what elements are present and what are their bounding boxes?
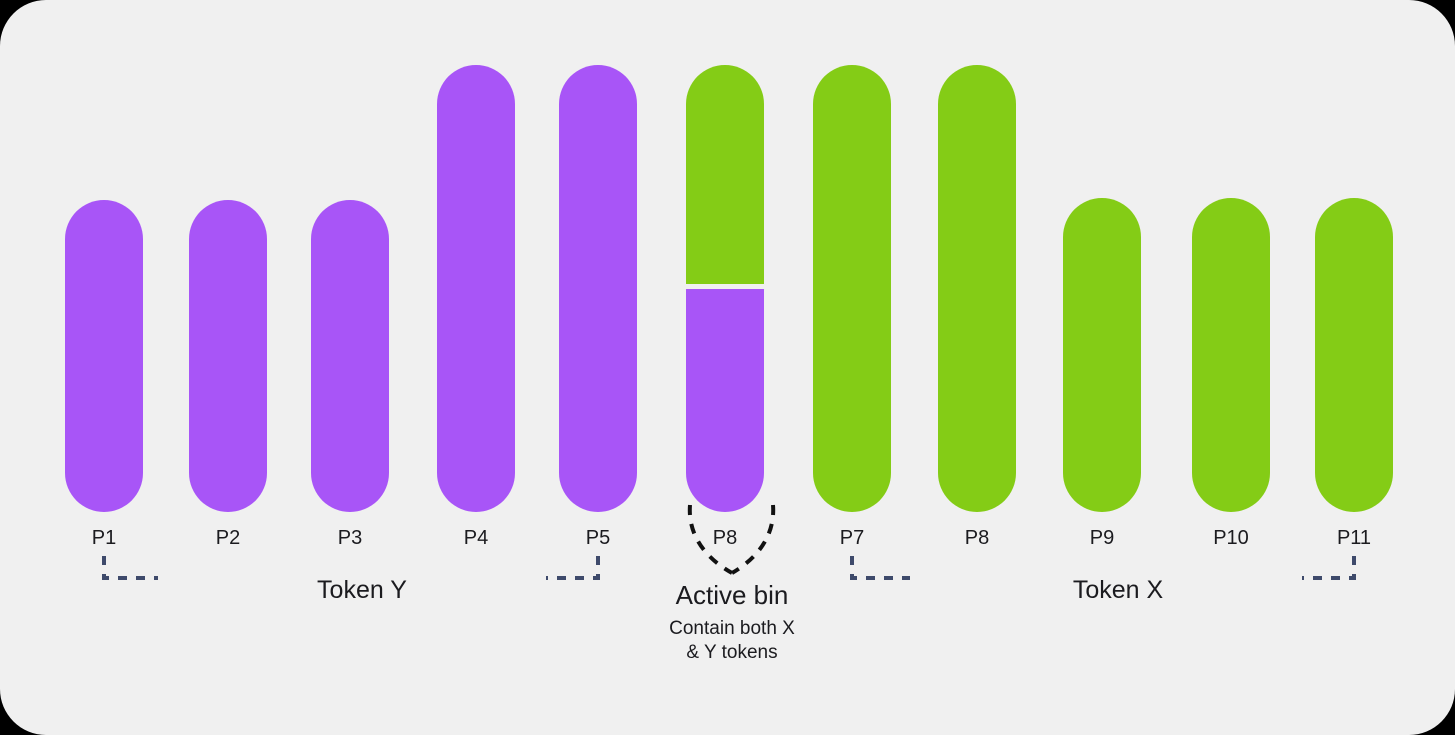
bin-bar-p11[interactable]: [1315, 198, 1393, 512]
bin-bar-p10[interactable]: [1192, 198, 1270, 512]
active-bin-token-y-portion[interactable]: [686, 289, 764, 512]
bin-label-active: P8: [686, 528, 764, 548]
bracket-token-y-right: [546, 556, 598, 578]
group-caption-token-y: Token Y: [262, 578, 462, 603]
bin-label-p11: P11: [1315, 528, 1393, 548]
diagram-stage: P1 P2 P3 P4 P5 P8 P7 P8 P9 P10 P11 Token…: [0, 0, 1455, 735]
bin-label-p8: P8: [938, 528, 1016, 548]
active-bin-token-x-portion[interactable]: [686, 65, 764, 284]
bin-label-p10: P10: [1192, 528, 1270, 548]
bracket-token-x-left: [852, 556, 910, 578]
bin-bar-p3[interactable]: [311, 200, 389, 512]
active-bin-subtitle-line-1: Contain both X: [582, 617, 882, 641]
bin-bar-p5[interactable]: [559, 65, 637, 512]
active-bin-title: Active bin: [582, 582, 882, 608]
bracket-token-y-left: [104, 556, 158, 578]
bin-label-p3: P3: [311, 528, 389, 548]
bin-label-p1: P1: [65, 528, 143, 548]
bin-bar-p1[interactable]: [65, 200, 143, 512]
bracket-token-x-right: [1302, 556, 1354, 578]
group-caption-token-x: Token X: [1018, 578, 1218, 603]
bin-label-p7: P7: [813, 528, 891, 548]
bin-label-p9: P9: [1063, 528, 1141, 548]
bin-bar-p7[interactable]: [813, 65, 891, 512]
bin-bar-p4[interactable]: [437, 65, 515, 512]
active-bin-subtitle-line-2: & Y tokens: [582, 641, 882, 665]
bin-label-p2: P2: [189, 528, 267, 548]
bin-bar-p2[interactable]: [189, 200, 267, 512]
diagram-panel: P1 P2 P3 P4 P5 P8 P7 P8 P9 P10 P11 Token…: [0, 0, 1455, 735]
bin-label-p4: P4: [437, 528, 515, 548]
bin-bar-p8[interactable]: [938, 65, 1016, 512]
active-bin-caption: Active bin Contain both X & Y tokens: [582, 582, 882, 665]
bin-label-p5: P5: [559, 528, 637, 548]
bin-bar-p9[interactable]: [1063, 198, 1141, 512]
